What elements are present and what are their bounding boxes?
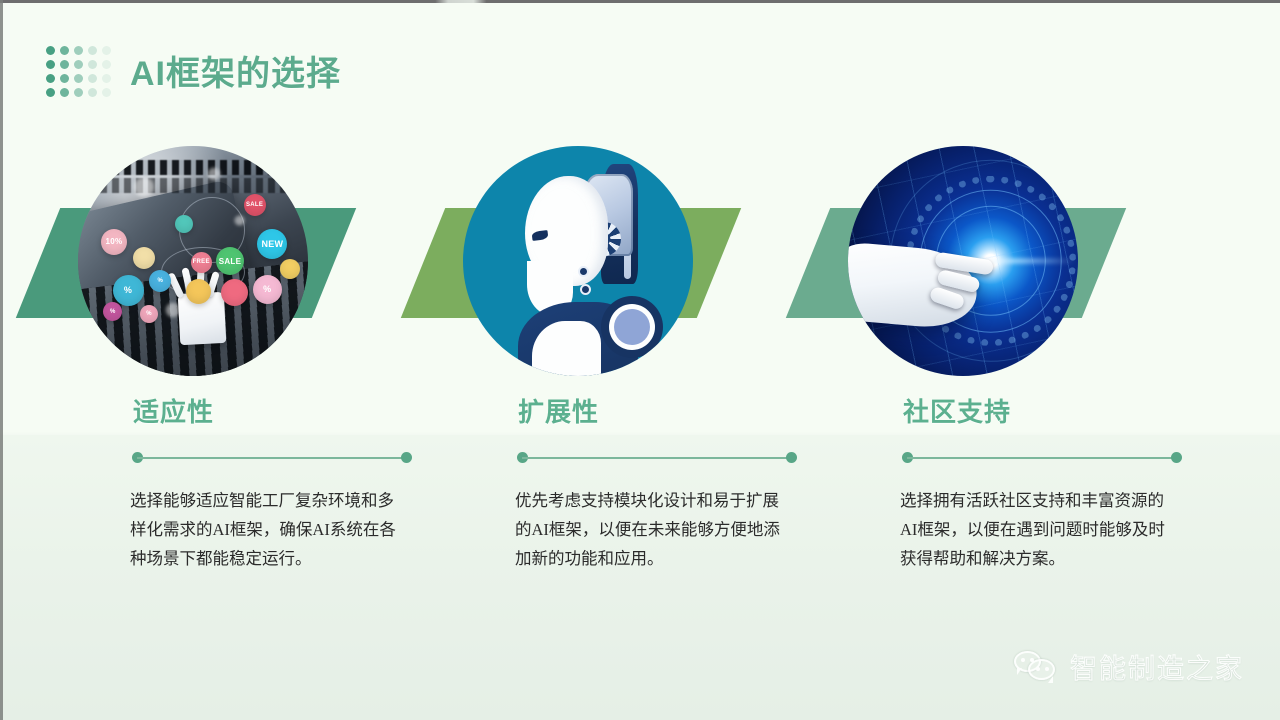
dot-grid-cell	[88, 60, 97, 69]
dot-grid-cell	[74, 74, 83, 83]
dot-grid-cell	[60, 46, 69, 55]
dot-grid-cell	[88, 46, 97, 55]
promo-bubble	[280, 259, 300, 279]
dot-grid-cell	[74, 60, 83, 69]
column-body-community-support: 选择拥有活跃社区支持和丰富资源的AI框架，以便在遇到问题时能够及时获得帮助和解决…	[900, 486, 1170, 573]
divider-line	[907, 457, 1177, 459]
column-body-adaptability: 选择能够适应智能工厂复杂环境和多样化需求的AI框架，确保AI系统在各种场景下都能…	[130, 486, 400, 573]
divider-line	[522, 457, 792, 459]
feature-column-adaptability: 10%SALENEWFREESALE%%%%% 适应性 选择能够适应智能工厂复杂…	[20, 0, 410, 720]
promo-bubble: %	[140, 305, 158, 323]
promo-bubble: SALE	[244, 194, 266, 216]
wechat-watermark: 智能制造之家	[1014, 647, 1244, 686]
wechat-icon	[1014, 651, 1058, 683]
dot-grid-cell	[46, 88, 55, 97]
promo-bubble: NEW	[257, 229, 287, 259]
dot-grid-cell	[102, 46, 111, 55]
feature-column-scalability: 扩展性 优先考虑支持模块化设计和易于扩展的AI框架，以便在未来能够方便地添加新的…	[405, 0, 795, 720]
dot-grid-icon	[46, 46, 116, 102]
dot-grid-cell	[60, 60, 69, 69]
promo-bubble	[175, 215, 193, 233]
column-divider-1	[132, 452, 412, 464]
promo-bubble: %	[113, 275, 144, 306]
promo-bubble: SALE	[216, 247, 244, 275]
promo-bubble: FREE	[191, 252, 212, 273]
dot-grid-cell	[46, 60, 55, 69]
column-divider-2	[517, 452, 797, 464]
divider-line	[137, 457, 407, 459]
dot-grid-cell	[74, 88, 83, 97]
dot-grid-cell	[102, 88, 111, 97]
watermark-text: 智能制造之家	[1070, 647, 1244, 686]
slide-canvas: AI框架的选择	[0, 0, 1280, 720]
dot-grid-cell	[88, 88, 97, 97]
dot-grid-cell	[88, 74, 97, 83]
dot-grid-cell	[74, 46, 83, 55]
dot-grid-cell	[60, 74, 69, 83]
dot-grid-cell	[46, 74, 55, 83]
column-title-adaptability: 适应性	[20, 392, 410, 429]
divider-dot-right	[1171, 452, 1182, 463]
promo-bubble: %	[253, 275, 282, 304]
dot-grid-cell	[102, 74, 111, 83]
column-body-scalability: 优先考虑支持模块化设计和易于扩展的AI框架，以便在未来能够方便地添加新的功能和应…	[515, 486, 785, 573]
feature-column-community-support: 社区支持 选择拥有活跃社区支持和丰富资源的AI框架，以便在遇到问题时能够及时获得…	[790, 0, 1180, 720]
column-title-community-support: 社区支持	[790, 392, 1180, 429]
column-divider-3	[902, 452, 1182, 464]
feature-columns: 10%SALENEWFREESALE%%%%% 适应性 选择能够适应智能工厂复杂…	[0, 0, 1280, 720]
image-robotic-hand-portal	[848, 146, 1078, 376]
page-title: AI框架的选择	[130, 46, 341, 95]
column-title-scalability: 扩展性	[405, 392, 795, 429]
image-circuit-board-shopping-bubbles: 10%SALENEWFREESALE%%%%%	[78, 146, 308, 376]
slide-header: AI框架的选择	[0, 18, 1280, 98]
dot-grid-cell	[46, 46, 55, 55]
promo-bubble: 10%	[101, 229, 127, 255]
dot-grid-cell	[60, 88, 69, 97]
image-robot-head-profile	[463, 146, 693, 376]
dot-grid-cell	[102, 60, 111, 69]
promo-bubble	[221, 279, 248, 306]
